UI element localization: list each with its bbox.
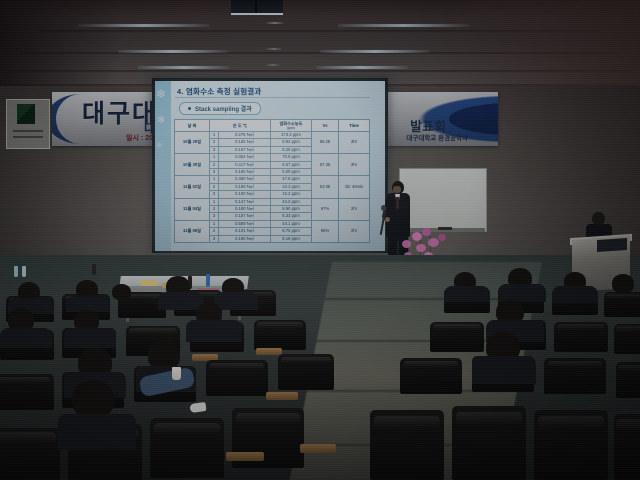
water-bottle	[22, 266, 26, 277]
cell-conc: 10.2 ppm	[271, 191, 312, 198]
seat[interactable]	[452, 406, 526, 480]
microphone-head-icon	[381, 205, 386, 211]
cell-time: 2hr	[339, 154, 370, 176]
seat-tablet-arm[interactable]	[300, 444, 336, 453]
cell-vs: 67.35	[312, 154, 339, 176]
cell-temp: 0.167 N㎥	[218, 146, 270, 153]
th-date: 날 짜	[175, 120, 210, 132]
cell-index: 2	[210, 183, 219, 190]
cell-index: 3	[210, 169, 219, 176]
cell-temp: 0.165 N㎥	[218, 139, 270, 146]
cell-conc: 5.09 ppm	[271, 169, 312, 176]
cell-index: 2	[210, 139, 219, 146]
audience-shoulders	[552, 286, 598, 303]
cell-time: 1hr 40min	[339, 176, 370, 198]
th-time: Time	[339, 120, 370, 132]
cell-index: 2	[210, 161, 219, 168]
seat[interactable]	[0, 428, 60, 480]
seat[interactable]	[400, 358, 462, 394]
bullet-dot-icon	[188, 107, 191, 110]
cell-date: 10월 30일	[175, 154, 210, 176]
audience-shoulders	[0, 328, 52, 348]
table-row: 11월 02일 1 0.460 N㎥ 47.8 ppm 53.08 1hr 40…	[175, 176, 370, 183]
snack-plate	[140, 280, 158, 286]
cell-date: 11월 06일	[175, 220, 210, 242]
cell-date: 10월 29일	[175, 132, 210, 154]
table-row: 10월 29일 1 0.276 N㎥ 273.3 ppm 69.28 2hr	[175, 132, 370, 139]
seat[interactable]	[430, 322, 484, 352]
cell-conc: 8.57 ppm	[271, 161, 312, 168]
seat-tablet-arm[interactable]	[266, 392, 298, 400]
cell-conc: 70.9 ppm	[271, 154, 312, 161]
seat[interactable]	[614, 414, 640, 480]
seat[interactable]	[604, 292, 640, 317]
snowflake-icon: ❄	[156, 87, 166, 101]
cell-vs: 53.08	[312, 176, 339, 198]
cell-temp: 0.054 N㎥	[218, 154, 270, 161]
seat-tablet-arm[interactable]	[226, 452, 264, 461]
seat[interactable]	[614, 324, 640, 354]
cell-temp: 0.117 N㎥	[218, 161, 270, 168]
seat[interactable]	[278, 354, 334, 390]
cell-temp: 0.188 N㎥	[218, 183, 270, 190]
audience-shoulders	[58, 414, 136, 450]
cell-temp: 0.190 N㎥	[218, 191, 270, 198]
snowflake-icon: ❄	[156, 141, 163, 150]
seat[interactable]	[554, 322, 608, 352]
cell-time: 2hr	[339, 220, 370, 242]
table-header-row: 날 짜 온 도 ℃ 염화수소농도 (ppm) Vs Time	[175, 120, 370, 132]
cell-temp: 0.180 N㎥	[218, 206, 270, 213]
slide-bullet-box: Stack sampling 결과	[179, 102, 261, 115]
cell-time: 2hr	[339, 132, 370, 154]
cell-date: 11월 04일	[175, 198, 210, 220]
seat[interactable]	[150, 418, 224, 478]
cell-temp: 0.187 N㎥	[218, 213, 270, 220]
water-bottle	[14, 266, 18, 277]
th-concentration: 염화수소농도 (ppm)	[271, 120, 312, 132]
slide-bullet-text: Stack sampling 결과	[195, 104, 252, 113]
cell-conc: 44.2 ppm	[271, 198, 312, 205]
table-body: 10월 29일 1 0.276 N㎥ 273.3 ppm 69.28 2hr 2…	[175, 132, 370, 243]
cell-conc: 44.1 ppm	[271, 220, 312, 227]
cell-temp: 0.101 N㎥	[218, 228, 270, 235]
cell-vs: 66%	[312, 220, 339, 242]
cell-temp: 0.460 N㎥	[218, 176, 270, 183]
snowflake-icon: ❄	[157, 115, 165, 126]
seat[interactable]	[206, 360, 268, 396]
cell-conc: 8.90 ppm	[271, 206, 312, 213]
cell-index: 1	[210, 132, 219, 139]
cell-conc: 6.28 ppm	[271, 146, 312, 153]
cell-conc: 47.8 ppm	[271, 176, 312, 183]
audience-shoulders	[472, 356, 536, 384]
cell-index: 1	[210, 198, 219, 205]
seat[interactable]	[544, 358, 606, 394]
audience-shoulders	[498, 284, 546, 302]
projection-screen: ❄ ❄ ❄ 4. 염화수소 측정 실험결과 Stack sampling 결과 …	[155, 81, 385, 251]
cell-index: 1	[210, 154, 219, 161]
cell-temp: 0.147 N㎥	[218, 198, 270, 205]
th-temp: 온 도 ℃	[210, 120, 271, 132]
cell-vs: 67%	[312, 198, 339, 220]
cell-index: 1	[210, 176, 219, 183]
cell-time: 2hr	[339, 198, 370, 220]
slide-left-band	[155, 81, 171, 251]
th-vs: Vs	[312, 120, 339, 132]
audience-shoulders	[64, 328, 116, 348]
cell-index: 3	[210, 191, 219, 198]
th-concentration-label: 염화수소농도	[279, 121, 302, 126]
cell-date: 11월 02일	[175, 176, 210, 198]
table-row: 11월 04일 1 0.147 N㎥ 44.2 ppm 67% 2hr	[175, 198, 370, 205]
table-row: 11월 06일 1 0.589 N㎥ 44.1 ppm 66% 2hr	[175, 220, 370, 227]
cell-index: 3	[210, 235, 219, 242]
cell-temp: 0.190 N㎥	[218, 235, 270, 242]
cell-temp: 0.180 N㎥	[218, 169, 270, 176]
table-row: 10월 30일 1 0.054 N㎥ 70.9 ppm 67.35 2hr	[175, 154, 370, 161]
audience-shoulders	[444, 286, 490, 302]
wall-poster	[6, 99, 50, 149]
cell-conc: 10.3 ppm	[271, 183, 312, 190]
audience-shoulders	[186, 320, 242, 342]
cell-conc: 8.94 ppm	[271, 139, 312, 146]
cell-conc: 6.33 ppm	[271, 213, 312, 220]
paper-cup	[172, 367, 181, 380]
cell-temp: 0.276 N㎥	[218, 132, 270, 139]
seat[interactable]	[616, 362, 640, 398]
drink-bottle	[206, 274, 210, 287]
cell-temp: 0.589 N㎥	[218, 220, 270, 227]
audience-head	[72, 380, 114, 418]
cell-index: 3	[210, 146, 219, 153]
auditorium-scene: 대구대 대구 일시 : 2009. 11. 20 발표회 대구대학교 환경공학과…	[0, 0, 640, 480]
podium-monitor	[597, 238, 627, 252]
seat[interactable]	[370, 410, 444, 480]
cell-index: 3	[210, 213, 219, 220]
cell-conc: 6.75 ppm	[271, 228, 312, 235]
audience-head	[112, 284, 131, 300]
projector-icon	[231, 0, 283, 15]
water-bottle	[92, 264, 96, 275]
slide-results-table: 날 짜 온 도 ℃ 염화수소농도 (ppm) Vs Time 10월 29일	[174, 119, 370, 243]
th-concentration-unit: (ppm)	[271, 126, 311, 131]
cell-conc: 273.3 ppm	[271, 132, 312, 139]
seat[interactable]	[534, 410, 608, 480]
cell-index: 2	[210, 206, 219, 213]
slide-title: 4. 염화수소 측정 실험결과	[177, 86, 262, 97]
cell-index: 2	[210, 228, 219, 235]
audience-head	[612, 274, 634, 293]
cell-vs: 69.28	[312, 132, 339, 154]
seat[interactable]	[0, 374, 54, 410]
presentation-slide: ❄ ❄ ❄ 4. 염화수소 측정 실험결과 Stack sampling 결과 …	[155, 81, 385, 251]
seat[interactable]	[254, 320, 306, 350]
cell-index: 1	[210, 220, 219, 227]
cell-conc: 6.16 ppm	[271, 235, 312, 242]
